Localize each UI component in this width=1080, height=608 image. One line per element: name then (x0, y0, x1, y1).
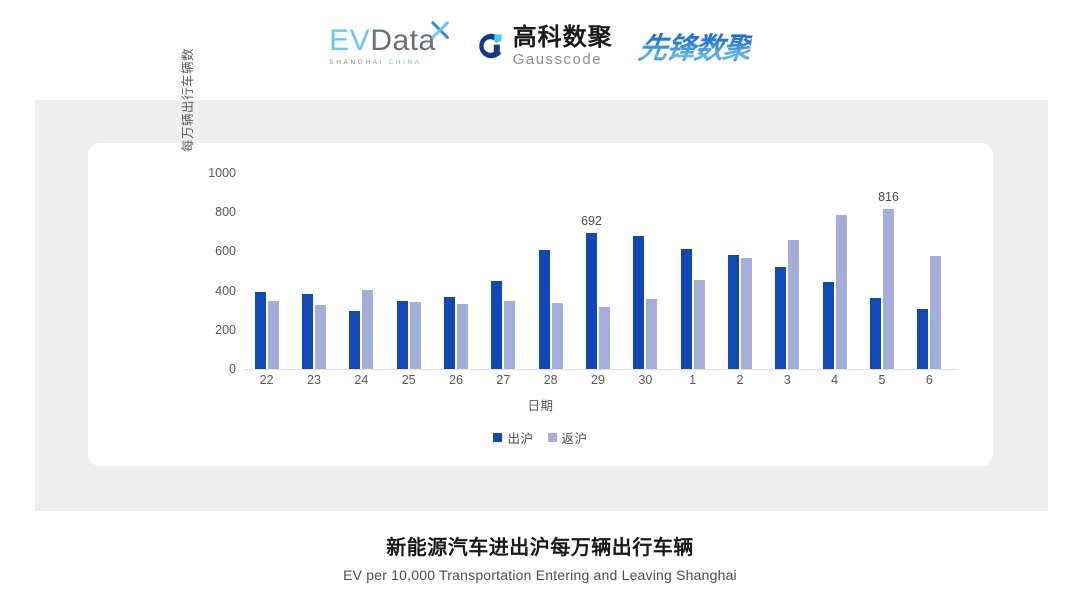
bar-fanhu[interactable] (552, 303, 563, 369)
bar-group (633, 173, 657, 369)
x-axis-baseline (243, 369, 958, 370)
evdata-logo: EVData SHANGHAI CHINA (329, 26, 449, 67)
y-axis-title: 每万辆出行车辆数 (177, 20, 193, 180)
bar-chuhu[interactable] (302, 294, 313, 369)
bar-chuhu[interactable] (586, 233, 597, 369)
bar-fanhu[interactable] (646, 299, 657, 369)
bar-group (444, 173, 468, 369)
bar-chuhu[interactable] (728, 255, 739, 369)
legend-item[interactable]: 返沪 (548, 428, 588, 447)
x-tick-label: 5 (879, 373, 886, 387)
x-tick-label: 1 (689, 373, 696, 387)
bar-fanhu[interactable] (410, 302, 421, 369)
bar-group (917, 173, 941, 369)
bar-fanhu[interactable] (362, 290, 373, 369)
x-cross-icon (430, 20, 452, 42)
legend-label: 出沪 (507, 428, 533, 447)
y-tick-label: 600 (215, 244, 236, 258)
evdata-ev-text: EV (329, 24, 370, 57)
bar-chuhu[interactable] (491, 281, 502, 369)
bar-fanhu[interactable] (599, 307, 610, 369)
bar-value-label: 692 (581, 214, 602, 228)
bar-chuhu[interactable] (397, 301, 408, 369)
bar-fanhu[interactable] (504, 301, 515, 369)
bar-group (255, 173, 279, 369)
bar-fanhu[interactable] (741, 258, 752, 369)
bar-fanhu[interactable] (457, 304, 468, 369)
bar-fanhu[interactable] (836, 215, 847, 369)
evdata-wordmark: EVData (329, 26, 435, 56)
x-tick-label: 27 (496, 373, 510, 387)
c-circle-icon (476, 31, 506, 61)
y-tick-label: 800 (215, 205, 236, 219)
bar-chuhu[interactable] (917, 309, 928, 369)
y-tick-label: 0 (229, 362, 236, 376)
bar-chuhu[interactable] (255, 292, 266, 369)
bar-fanhu[interactable] (788, 240, 799, 369)
x-tick-label: 23 (307, 373, 321, 387)
gausscode-en-text: Gausscode (513, 52, 602, 67)
caption-title-cn: 新能源汽车进出沪每万辆出行车辆 (0, 531, 1080, 560)
bar-group (586, 173, 610, 369)
y-axis-ticks: 10008006004002000 (192, 173, 236, 369)
y-tick-label: 400 (215, 284, 236, 298)
x-tick-label: 28 (544, 373, 558, 387)
bar-group (397, 173, 421, 369)
y-tick-label: 1000 (208, 166, 236, 180)
chart-legend: 出沪返沪 (88, 428, 993, 447)
x-tick-label: 22 (260, 373, 274, 387)
x-axis-ticks: 222324252627282930123456 (243, 373, 953, 391)
x-tick-label: 2 (737, 373, 744, 387)
bar-group (681, 173, 705, 369)
bar-fanhu[interactable] (268, 301, 279, 369)
caption-title-en: EV per 10,000 Transportation Entering an… (0, 567, 1080, 583)
legend-item[interactable]: 出沪 (493, 428, 533, 447)
xianfengshuju-logo: 先锋数聚 (636, 25, 754, 67)
bar-chuhu[interactable] (775, 267, 786, 369)
gausscode-logo: 高科数聚 Gausscode (476, 26, 613, 67)
bar-chart: 每万辆出行车辆数 10008006004002000 692816 222324… (88, 143, 993, 466)
evdata-subtitle-city: SHANGHAI (329, 59, 388, 66)
x-tick-label: 4 (831, 373, 838, 387)
bar-chuhu[interactable] (870, 298, 881, 369)
x-tick-label: 6 (926, 373, 933, 387)
x-axis-title: 日期 (88, 395, 993, 414)
bar-chuhu[interactable] (444, 297, 455, 369)
evdata-subtitle: SHANGHAI CHINA (329, 60, 421, 67)
bar-group (823, 173, 847, 369)
x-tick-label: 3 (784, 373, 791, 387)
x-tick-label: 30 (638, 373, 652, 387)
gausscode-cn-text: 高科数聚 (513, 26, 613, 50)
y-tick-label: 200 (215, 323, 236, 337)
bar-group (302, 173, 326, 369)
bar-value-label: 816 (878, 190, 899, 204)
plot-area: 692816 (243, 173, 953, 369)
evdata-data-text: Data (370, 24, 435, 57)
bar-group (491, 173, 515, 369)
legend-swatch-icon (493, 433, 502, 442)
bar-fanhu[interactable] (930, 256, 941, 369)
bar-chuhu[interactable] (349, 311, 360, 369)
legend-label: 返沪 (562, 428, 588, 447)
bar-group (728, 173, 752, 369)
bar-chuhu[interactable] (823, 282, 834, 369)
bar-fanhu[interactable] (883, 209, 894, 369)
bar-chuhu[interactable] (681, 249, 692, 369)
evdata-subtitle-country: CHINA (388, 59, 421, 66)
bar-group (539, 173, 563, 369)
logo-bar: EVData SHANGHAI CHINA 高科数聚 Gausscode 先锋数… (0, 0, 1080, 92)
x-tick-label: 26 (449, 373, 463, 387)
bar-group (775, 173, 799, 369)
x-tick-label: 25 (402, 373, 416, 387)
bar-chuhu[interactable] (633, 236, 644, 369)
bar-fanhu[interactable] (694, 280, 705, 369)
bar-fanhu[interactable] (315, 305, 326, 369)
legend-swatch-icon (548, 433, 557, 442)
bar-group (349, 173, 373, 369)
x-tick-label: 29 (591, 373, 605, 387)
bar-chuhu[interactable] (539, 250, 550, 369)
chart-card: 每万辆出行车辆数 10008006004002000 692816 222324… (88, 143, 993, 466)
gausscode-wordmark: 高科数聚 Gausscode (513, 26, 613, 67)
x-tick-label: 24 (354, 373, 368, 387)
